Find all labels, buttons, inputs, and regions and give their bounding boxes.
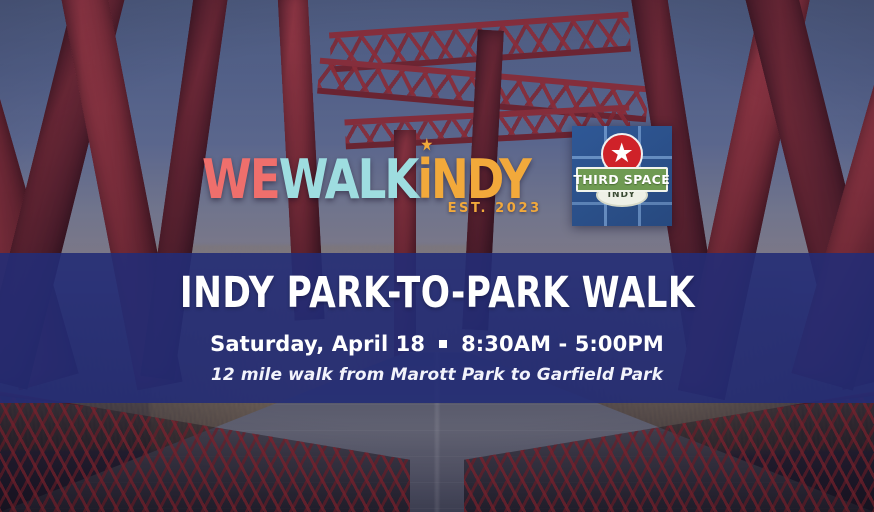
event-dateline: Saturday, April 18 8:30AM - 5:00PM (210, 332, 664, 356)
star-icon: ★ (610, 140, 634, 167)
star-icon: ★ (421, 136, 432, 153)
wewalkindy-established: EST. 2023 (448, 202, 542, 215)
thirdspace-indy-logo: ★ INDY THIRD SPACE (572, 126, 672, 226)
thirdspace-green-banner: THIRD SPACE (576, 167, 668, 192)
event-title: INDY PARK-TO-PARK WALK (179, 268, 694, 317)
event-date: Saturday, April 18 (210, 332, 425, 356)
separator-square-icon (439, 340, 447, 348)
event-time: 8:30AM - 5:00PM (461, 332, 664, 356)
wordmark-we: WE (202, 148, 279, 212)
wewalkindy-logo: WEWALK★iNDY EST. 2023 (202, 153, 544, 200)
logo-row: WEWALK★iNDY EST. 2023 ★ INDY THIRD SPACE (0, 126, 874, 226)
event-info-band: INDY PARK-TO-PARK WALK Saturday, April 1… (0, 253, 874, 403)
wordmark-walk: WALK (279, 148, 418, 212)
thirdspace-banner-label: THIRD SPACE (573, 172, 670, 187)
wewalkindy-wordmark: WEWALK★iNDY (202, 153, 530, 208)
event-subtitle: 12 mile walk from Marott Park to Garfiel… (211, 365, 663, 385)
event-poster: WEWALK★iNDY EST. 2023 ★ INDY THIRD SPACE… (0, 0, 874, 512)
